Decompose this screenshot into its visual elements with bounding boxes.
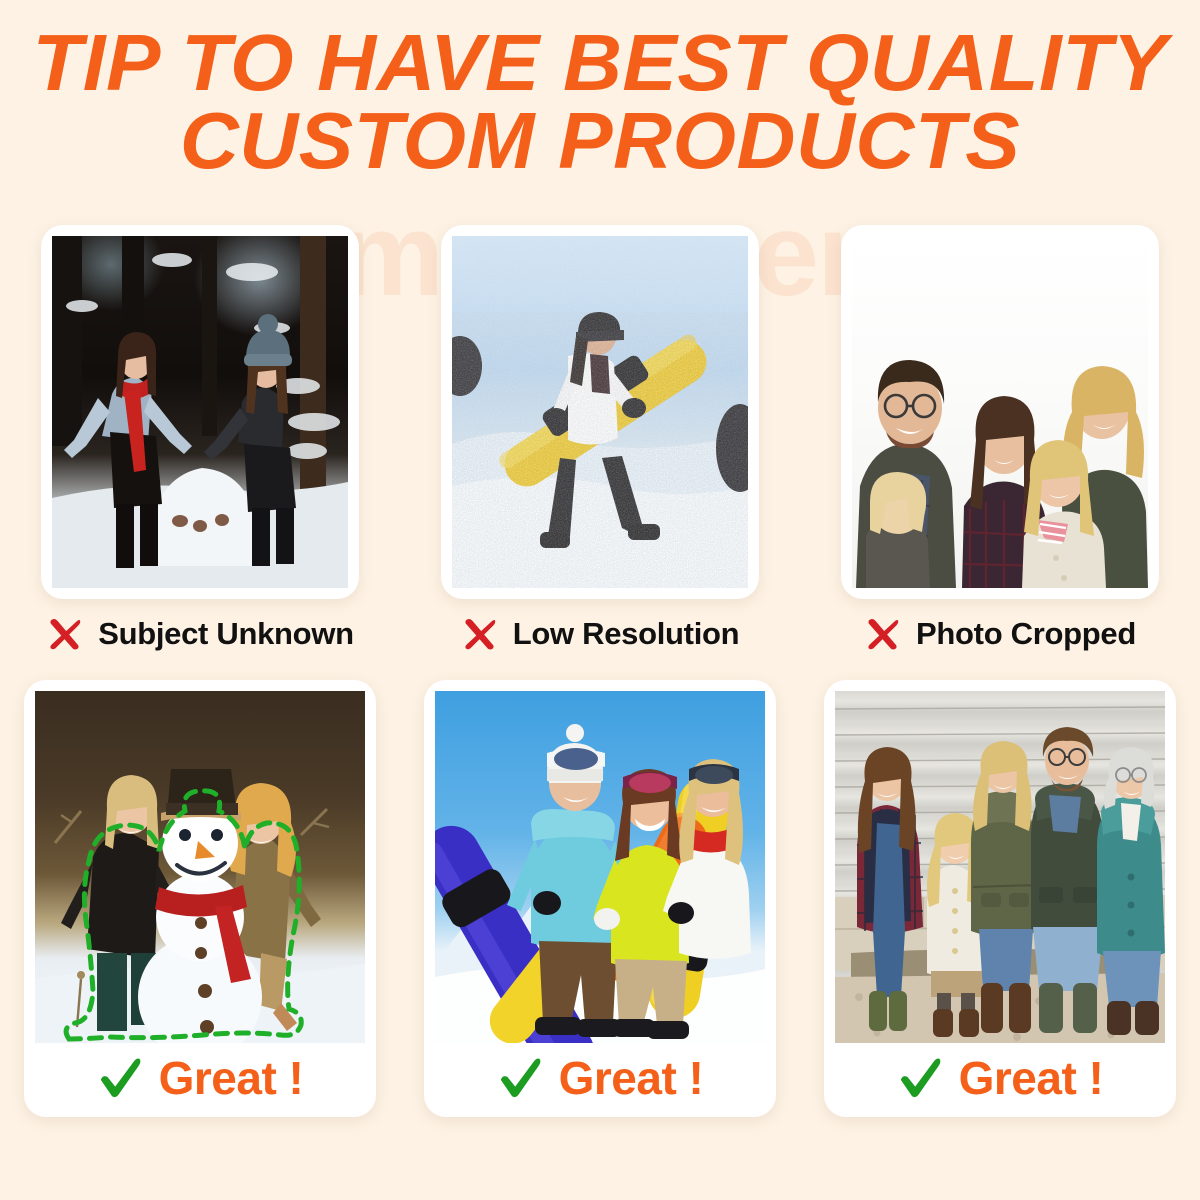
label-great-family: Great !	[835, 1043, 1165, 1111]
label-text: Low Resolution	[513, 616, 740, 652]
photo-family-cropped	[852, 236, 1148, 588]
photo-two-women-building-snowman	[52, 236, 348, 588]
photo-card-great-family: Great !	[824, 680, 1176, 1117]
label-text: Subject Unknown	[98, 616, 354, 652]
label-text: Photo Cropped	[916, 616, 1136, 652]
example-cell-great-snowman: Great !	[0, 680, 400, 1155]
label-low-resolution: Low Resolution	[461, 615, 740, 653]
red-x-icon	[46, 615, 84, 653]
example-cell-great-family: Great !	[800, 680, 1200, 1155]
page-title: TIP TO HAVE BEST QUALITY CUSTOM PRODUCTS	[0, 24, 1200, 179]
red-x-icon	[864, 615, 902, 653]
label-great-snowman: Great !	[35, 1043, 365, 1111]
photo-family-of-five	[835, 691, 1165, 1043]
label-subject-unknown: Subject Unknown	[46, 615, 354, 653]
label-text: Great !	[159, 1051, 304, 1105]
photo-card-subject-unknown	[41, 225, 359, 599]
photo-three-snowboarders	[435, 691, 765, 1043]
green-check-icon	[497, 1055, 543, 1101]
photo-two-women-with-snowman	[35, 691, 365, 1043]
example-cell-great-snowboarders: Great !	[400, 680, 800, 1155]
photo-card-great-snowman: Great !	[24, 680, 376, 1117]
photo-card-great-snowboarders: Great !	[424, 680, 776, 1117]
photo-card-photo-cropped	[841, 225, 1159, 599]
page-title-line-2: CUSTOM PRODUCTS	[0, 102, 1200, 180]
label-photo-cropped: Photo Cropped	[864, 615, 1136, 653]
label-great-snowboarders: Great !	[435, 1043, 765, 1111]
examples-grid: Subject Unknown	[0, 225, 1200, 1155]
example-cell-subject-unknown: Subject Unknown	[0, 225, 400, 680]
green-check-icon	[897, 1055, 943, 1101]
green-check-icon	[97, 1055, 143, 1101]
label-text: Great !	[959, 1051, 1104, 1105]
example-cell-low-resolution: Low Resolution	[400, 225, 800, 680]
photo-pixelated-snowboarder	[452, 236, 748, 588]
label-text: Great !	[559, 1051, 704, 1105]
page-title-line-1: TIP TO HAVE BEST QUALITY	[0, 24, 1200, 102]
example-cell-photo-cropped: Photo Cropped	[800, 225, 1200, 680]
photo-card-low-resolution	[441, 225, 759, 599]
red-x-icon	[461, 615, 499, 653]
